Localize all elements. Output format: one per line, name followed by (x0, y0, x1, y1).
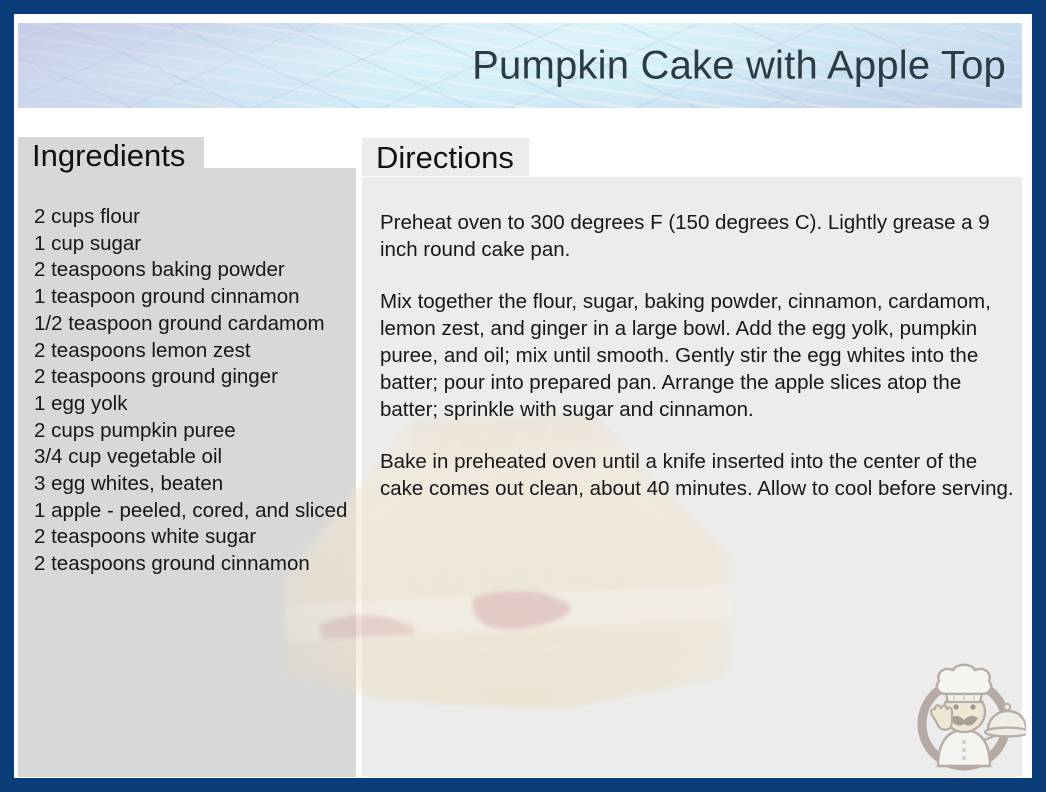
directions-heading: Directions (362, 142, 514, 173)
ingredient-item: 2 teaspoons ground cinnamon (34, 551, 364, 578)
ingredient-item: 2 cups flour (34, 204, 364, 231)
directions-text: Preheat oven to 300 degrees F (150 degre… (380, 209, 1025, 502)
ingredient-item: 2 cups pumpkin puree (34, 418, 364, 445)
ingredient-item: 3/4 cup vegetable oil (34, 444, 364, 471)
directions-heading-tab: Directions (362, 138, 529, 176)
ingredient-item: 3 egg whites, beaten (34, 471, 364, 498)
ingredient-item: 2 teaspoons lemon zest (34, 338, 364, 365)
ingredient-item: 2 teaspoons white sugar (34, 524, 364, 551)
direction-paragraph: Bake in preheated oven until a knife ins… (380, 448, 1025, 502)
title-banner: Pumpkin Cake with Apple Top (18, 23, 1022, 108)
direction-paragraph: Preheat oven to 300 degrees F (150 degre… (380, 209, 1025, 263)
page-title: Pumpkin Cake with Apple Top (472, 43, 1006, 88)
ingredient-item: 1 apple - peeled, cored, and sliced (34, 498, 364, 525)
ingredient-item: 2 teaspoons baking powder (34, 257, 364, 284)
ingredient-item: 1 egg yolk (34, 391, 364, 418)
ingredients-list: 2 cups flour1 cup sugar2 teaspoons bakin… (34, 204, 364, 578)
ingredient-item: 1 cup sugar (34, 231, 364, 258)
recipe-card: Pumpkin Cake with Apple Top Ingredients … (0, 0, 1046, 792)
ingredients-heading: Ingredients (18, 140, 185, 171)
ingredient-item: 1 teaspoon ground cinnamon (34, 284, 364, 311)
direction-paragraph: Mix together the flour, sugar, baking po… (380, 288, 1025, 423)
ingredient-item: 2 teaspoons ground ginger (34, 364, 364, 391)
ingredient-item: 1/2 teaspoon ground cardamom (34, 311, 364, 338)
ingredients-heading-tab: Ingredients (18, 137, 204, 173)
